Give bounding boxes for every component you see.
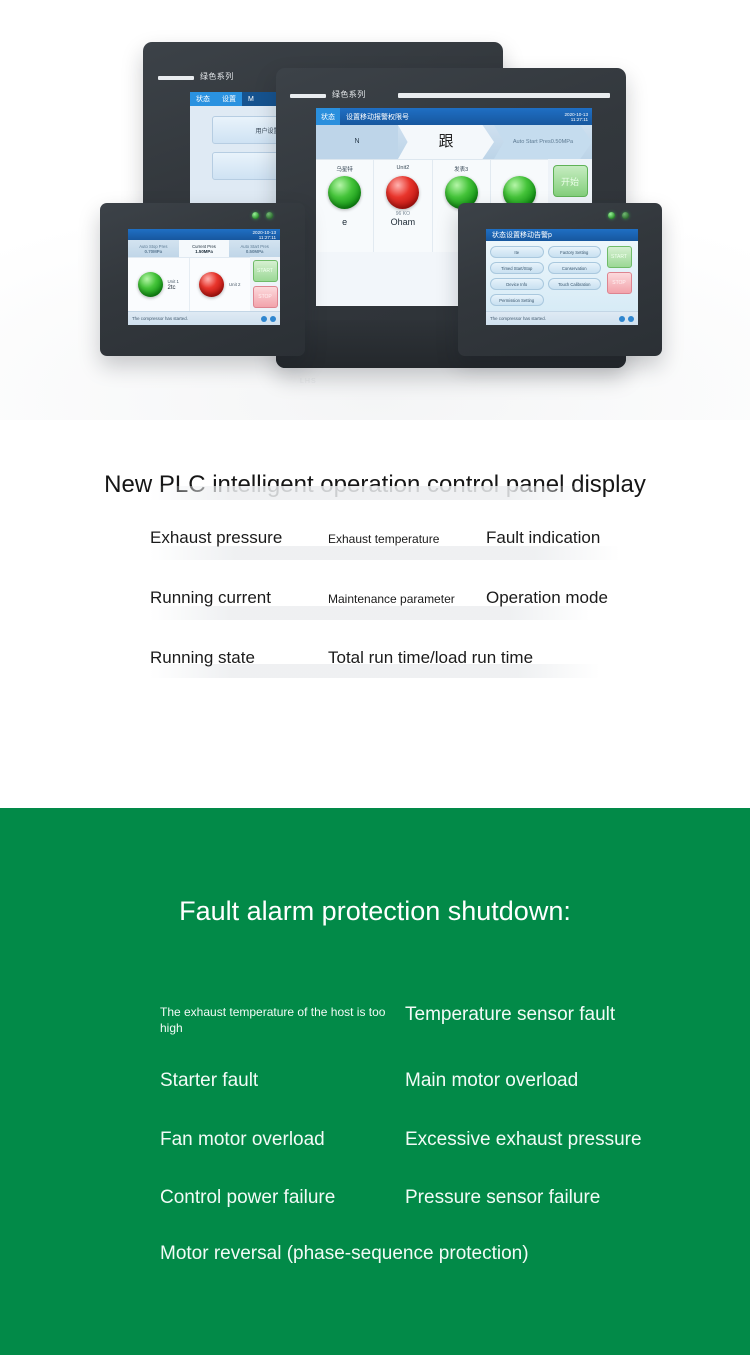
tab-more[interactable]: M [242, 92, 260, 106]
grid-button[interactable]: Ite [490, 246, 544, 258]
date-value: 2020-10-13 [253, 230, 277, 235]
power-led-group [608, 212, 629, 219]
feature-item: Exhaust temperature [328, 532, 486, 546]
feature-item: Fault indication [486, 528, 600, 548]
lamp-cell: Unit2 96 KO Oham [374, 160, 432, 252]
bottom-strip [0, 1355, 750, 1361]
ghost-band [150, 606, 590, 620]
screen-side-buttons: START STOP [250, 257, 280, 311]
alarm-item: Control power failure [160, 1187, 405, 1209]
status-lamp-green [328, 176, 361, 209]
status-icon-group [619, 316, 634, 322]
lamp-cell: Unit 2 [190, 258, 251, 311]
grid-button[interactable]: Permission Setting [490, 294, 544, 306]
alarm-item: Starter fault [160, 1070, 405, 1092]
status-lamp-green [138, 272, 163, 297]
time-value: 11:27:11 [565, 117, 589, 122]
alarm-row: The exhaust temperature of the host is t… [160, 1004, 740, 1036]
ribbon-step-3: Auto Start Pres 0.50MPa [494, 125, 592, 159]
ribbon-step-2: 跟 [398, 125, 494, 159]
datetime-display: 2020-10-13 11:27:11 [253, 230, 281, 240]
screen-title: 设置移动报警权限号 [340, 112, 409, 122]
start-button[interactable]: 开始 [553, 165, 588, 197]
auto-start-pres-label: Auto Start Pres [513, 139, 551, 146]
screen-header: 2020-10-13 11:27:11 [128, 229, 280, 240]
screen-header: 状态 设置移动报警权限号 2020-10-13 11:27:11 [316, 108, 592, 125]
run-led-icon [622, 212, 629, 219]
settings-icon[interactable] [270, 316, 276, 322]
tab-settings[interactable]: 设置 [216, 92, 242, 106]
power-led-icon [608, 212, 615, 219]
feature-item: Operation mode [486, 588, 608, 608]
power-led-icon [252, 212, 259, 219]
lamp-caption: Unit2 [396, 165, 409, 173]
stop-button[interactable]: STOP [253, 286, 278, 308]
lamp-value: e [342, 217, 347, 227]
status-lamp-red [199, 272, 224, 297]
value: 0.70MPa [145, 249, 163, 254]
date-value: 2020-10-13 [565, 112, 589, 117]
lamp-value: Oham [391, 217, 416, 227]
alarm-row: Starter fault Main motor overload [160, 1070, 740, 1092]
feature-item: Running state [150, 648, 328, 668]
alarm-section-title: Fault alarm protection shutdown: [0, 896, 750, 927]
lamp-label: Unit 1 2tc [168, 279, 179, 291]
grid-columns: Ite Timed Start/Stop Device Info Permiss… [490, 246, 601, 306]
status-bar: The compressor has started. [128, 311, 280, 325]
brand-accent-bar-left [158, 76, 194, 80]
feature-item: Exhaust pressure [150, 528, 328, 548]
brand-accent-bar-right [398, 93, 610, 98]
grid-button[interactable]: Factory Setting [548, 246, 602, 258]
start-button[interactable]: START [253, 260, 278, 282]
lamp-caption: 乌星特 [336, 165, 353, 173]
value: 1.50MPa [195, 249, 213, 254]
info-icon[interactable] [261, 316, 267, 322]
ribbon-current-pres: Current Pres 1.50MPa [179, 240, 230, 257]
grid-button[interactable]: Timed Start/Stop [490, 262, 544, 274]
ribbon-auto-start-pres: Auto Start Pres 0.50MPa [229, 240, 280, 257]
status-text: The compressor has started. [490, 316, 546, 321]
settings-button-grid: Ite Timed Start/Stop Device Info Permiss… [486, 241, 638, 311]
pressure-ribbon: Auto Stop Pres 0.70MPa Current Pres 1.50… [128, 240, 280, 257]
grid-button[interactable]: Conservation [548, 262, 602, 274]
grid-button[interactable]: Touch Calibration [548, 278, 602, 290]
status-bar: The compressor has started. [486, 311, 638, 325]
page-title: New PLC intelligent operation control pa… [0, 471, 750, 499]
feature-row: Running state Total run time/load run ti… [150, 648, 710, 668]
brand-label: 绿色系列 [200, 71, 234, 82]
alarm-row: Control power failure Pressure sensor fa… [160, 1187, 740, 1209]
unit-name: Unit 1 [168, 279, 179, 284]
device-front-right: 状态设置移动告警p Ite Timed Start/Stop Device In… [458, 203, 662, 356]
alarm-row: Fan motor overload Excessive exhaust pre… [160, 1129, 740, 1151]
status-text: The compressor has started. [132, 316, 188, 321]
grid-button[interactable]: Device Info [490, 278, 544, 290]
screen-front-right: 状态设置移动告警p Ite Timed Start/Stop Device In… [486, 229, 638, 325]
ribbon-step-1: N [316, 125, 398, 159]
alarm-item: Excessive exhaust pressure [405, 1129, 642, 1151]
stop-button[interactable]: STOP [607, 272, 632, 294]
status-icon-group [261, 316, 276, 322]
feature-row: Exhaust pressure Exhaust temperature Fau… [150, 528, 710, 548]
pressure-ribbon: N 跟 Auto Start Pres 0.50MPa [316, 125, 592, 159]
status-lamp-red [386, 176, 419, 209]
device-front-left: 2020-10-13 11:27:11 Auto Stop Pres 0.70M… [100, 203, 305, 356]
product-photo-stage: 绿色系列 状态 设置 M 用户设置 绿色系列 状态 [0, 0, 750, 420]
alarm-section: Fault alarm protection shutdown: The exh… [0, 808, 750, 1355]
screen-title: 状态设置移动告警p [492, 230, 552, 240]
alarm-row: Motor reversal (phase-sequence protectio… [160, 1243, 740, 1265]
feature-item: Maintenance parameter [328, 592, 486, 606]
alarm-item: Motor reversal (phase-sequence protectio… [160, 1243, 529, 1265]
settings-icon[interactable] [628, 316, 634, 322]
screen-header: 状态设置移动告警p [486, 229, 638, 241]
lamp-cell: 乌星特 e [316, 160, 374, 252]
screen-side-buttons: START STOP [601, 246, 634, 306]
feature-row: Running current Maintenance parameter Op… [150, 588, 710, 608]
alarm-item: Temperature sensor fault [405, 1004, 615, 1026]
feature-item: Running current [150, 588, 328, 608]
lamp-row: Unit 1 2tc Unit 2 [128, 257, 250, 311]
alarm-item: Pressure sensor failure [405, 1187, 600, 1209]
start-button[interactable]: START [607, 246, 632, 268]
alarm-item: The exhaust temperature of the host is t… [160, 1004, 405, 1036]
watermark-logo-secondary: LHS [300, 378, 317, 385]
brand-accent-bar-left [290, 94, 326, 98]
grid-column-left: Ite Timed Start/Stop Device Info Permiss… [490, 246, 544, 306]
auto-start-pres-value: 0.50MPa [551, 139, 573, 146]
lamp-label: Unit 2 [229, 282, 240, 288]
grid-column-right: Factory Setting Conservation Touch Calib… [548, 246, 602, 306]
run-led-icon [266, 212, 273, 219]
info-icon[interactable] [619, 316, 625, 322]
hero-section: 绿色系列 状态 设置 M 用户设置 绿色系列 状态 [0, 0, 750, 808]
datetime-display: 2020-10-13 11:27:11 [565, 112, 593, 122]
unit-name: Unit 2 [229, 282, 240, 287]
alarm-item: Fan motor overload [160, 1129, 405, 1151]
tab-status[interactable]: 状态 [190, 92, 216, 106]
feature-item: Total run time/load run time [328, 648, 533, 668]
tab-status[interactable]: 状态 [316, 108, 340, 125]
time-value: 11:27:11 [253, 235, 277, 240]
screen-front-left: 2020-10-13 11:27:11 Auto Stop Pres 0.70M… [128, 229, 280, 325]
alarm-item: Main motor overload [405, 1070, 578, 1092]
lamp-caption: 发表3 [454, 165, 468, 173]
ghost-band [150, 546, 620, 560]
power-led-group [252, 212, 273, 219]
value: 0.50MPa [246, 249, 264, 254]
brand-label: 绿色系列 [332, 89, 366, 100]
ribbon-auto-stop-pres: Auto Stop Pres 0.70MPa [128, 240, 179, 257]
unit-value: 2tc [168, 285, 179, 291]
lamp-cell: Unit 1 2tc [128, 258, 190, 311]
